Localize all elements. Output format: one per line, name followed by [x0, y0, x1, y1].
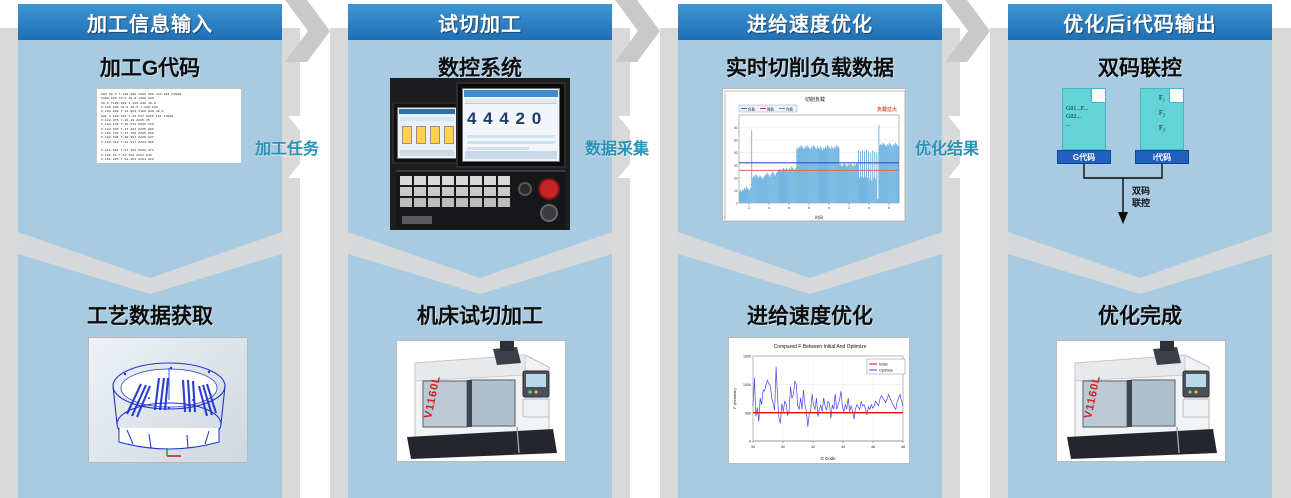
gcode-document-lines: G01...F... G02... ... — [1066, 105, 1102, 129]
svg-text:F (mm/min): F (mm/min) — [732, 388, 737, 409]
svg-text:2: 2 — [848, 206, 850, 210]
gcode-button-label: G代码 — [1073, 152, 1095, 163]
flow-arrow-label-2: 数据采集 — [585, 135, 649, 159]
svg-text:均值: 均值 — [786, 107, 793, 112]
column-header-input: 加工信息输入 — [18, 4, 282, 40]
cnc-machine-image-trial: V1160L — [396, 340, 566, 462]
cutting-load-chart: 切削负载负载阈值均值负载过大010203040506024680246时间 — [722, 88, 906, 222]
svg-text:负载: 负载 — [748, 107, 755, 112]
icode-document-card[interactable]: F₁ F₂ F₃ — [1140, 88, 1184, 150]
svg-text:时间: 时间 — [815, 214, 823, 220]
svg-text:30: 30 — [734, 164, 738, 168]
column-top-label-optimize: 实时切削负载数据 — [678, 52, 942, 82]
column-header-output: 优化后i代码输出 — [1008, 4, 1272, 40]
gcode-document-card[interactable]: G01...F... G02... ... — [1062, 88, 1106, 150]
machine-render-svg-trial: V1160L — [397, 341, 566, 462]
svg-text:42: 42 — [811, 445, 815, 449]
page-fold-icon — [1091, 89, 1105, 103]
column-bottom-label-output: 优化完成 — [1008, 300, 1272, 330]
column-header-optimize-text: 进给速度优化 — [747, 8, 873, 37]
column-header-input-text: 加工信息输入 — [87, 8, 213, 37]
svg-text:Optimize: Optimize — [879, 369, 893, 373]
svg-text:负载过大: 负载过大 — [877, 106, 897, 113]
svg-text:0: 0 — [828, 206, 830, 210]
svg-text:60: 60 — [734, 126, 738, 130]
svg-text:30: 30 — [751, 445, 755, 449]
flow-arrow-1 — [285, 0, 330, 62]
svg-text:Initial: Initial — [879, 363, 888, 367]
icode-button[interactable]: i代码 — [1135, 150, 1189, 164]
svg-text:0: 0 — [736, 202, 738, 206]
column-header-trial: 试切加工 — [348, 4, 612, 40]
column-bottom-label-optimize: 进给速度优化 — [678, 300, 942, 330]
cutting-load-chart-svg: 切削负载负载阈值均值负载过大010203040506024680246时间 — [723, 89, 906, 222]
gcode-text-panel: G03 X0.0 Y-189.039 I183.609 J44.983 F500… — [96, 88, 242, 164]
icode-document-lines: F₁ F₂ F₃ — [1144, 91, 1180, 136]
cnc-control-panel-image: 4 4 4 2 0 — [390, 78, 570, 230]
svg-text:44: 44 — [841, 445, 845, 449]
dual-control-label-line2: 联控 — [1132, 198, 1150, 209]
column-header-trial-text: 试切加工 — [438, 8, 522, 37]
stage-column-optimize: 进给速度优化 实时切削负载数据 进给速度优化 切削负载负载阈值均值负载过大010… — [678, 0, 942, 498]
svg-text:Compared F Between Initial And: Compared F Between Initial And Optimize — [774, 344, 867, 350]
column-header-output-text: 优化后i代码输出 — [1063, 8, 1217, 37]
stage-column-trial: 试切加工 数控系统 机床试切加工 4 — [348, 0, 612, 498]
svg-text:切削负载: 切削负载 — [805, 96, 825, 103]
workpiece-pointcloud-image — [88, 337, 248, 463]
svg-text:6: 6 — [788, 206, 790, 210]
flow-arrow-2 — [615, 0, 660, 62]
column-top-label-output: 双码联控 — [1008, 52, 1272, 82]
column-top-label-input: 加工G代码 — [18, 52, 282, 82]
gcode-button[interactable]: G代码 — [1057, 150, 1111, 164]
svg-text:0: 0 — [749, 440, 751, 444]
column-bottom-label-input: 工艺数据获取 — [18, 300, 282, 330]
svg-text:500: 500 — [745, 411, 751, 415]
column-bottom-label-trial: 机床试切加工 — [348, 300, 612, 330]
flow-diagram-canvas: 加工任务 数据采集 优化结果 加工信息输入 加工G代码 工艺数据获取 G03 X… — [0, 0, 1291, 498]
svg-text:48: 48 — [901, 445, 905, 449]
stage-column-input: 加工信息输入 加工G代码 工艺数据获取 G03 X0.0 Y-189.039 I… — [18, 0, 282, 498]
cnc-machine-image-output: V1160L — [1056, 340, 1226, 462]
column-header-optimize: 进给速度优化 — [678, 4, 942, 40]
stage-column-output: 优化后i代码输出 双码联控 优化完成 G01...F... G02... ...… — [1008, 0, 1272, 498]
icode-button-label: i代码 — [1153, 152, 1171, 163]
column-top-label-trial: 数控系统 — [348, 52, 612, 82]
svg-text:6: 6 — [888, 206, 890, 210]
svg-text:46: 46 — [871, 445, 875, 449]
gcode-text: G03 X0.0 Y-189.039 I183.609 J44.983 F500… — [101, 92, 237, 164]
svg-text:2: 2 — [748, 206, 750, 210]
flow-arrow-label-3: 优化结果 — [915, 135, 979, 159]
svg-text:4: 4 — [768, 206, 770, 210]
svg-text:1000: 1000 — [743, 383, 751, 387]
svg-text:50: 50 — [734, 139, 738, 143]
svg-text:10: 10 — [734, 189, 738, 193]
feedrate-compare-chart-svg: Compared F Between Initial And Optimize0… — [729, 338, 910, 464]
feedrate-compare-chart: Compared F Between Initial And Optimize0… — [728, 337, 910, 464]
flow-arrow-3 — [945, 0, 990, 62]
flow-arrow-label-1: 加工任务 — [255, 135, 319, 159]
workpiece-render-svg — [89, 338, 248, 463]
svg-text:1500: 1500 — [743, 355, 751, 359]
svg-text:阈值: 阈值 — [767, 107, 774, 112]
svg-text:G Code: G Code — [820, 456, 836, 461]
dual-control-label-line1: 双码 — [1132, 186, 1150, 197]
svg-text:40: 40 — [734, 151, 738, 155]
svg-text:20: 20 — [734, 176, 738, 180]
svg-text:40: 40 — [781, 445, 785, 449]
svg-text:8: 8 — [808, 206, 810, 210]
machine-render-svg-output: V1160L — [1057, 341, 1226, 462]
svg-text:4: 4 — [868, 206, 870, 210]
dual-code-diagram: G01...F... G02... ... G代码 F₁ F₂ F₃ i代码 双… — [1036, 88, 1246, 228]
